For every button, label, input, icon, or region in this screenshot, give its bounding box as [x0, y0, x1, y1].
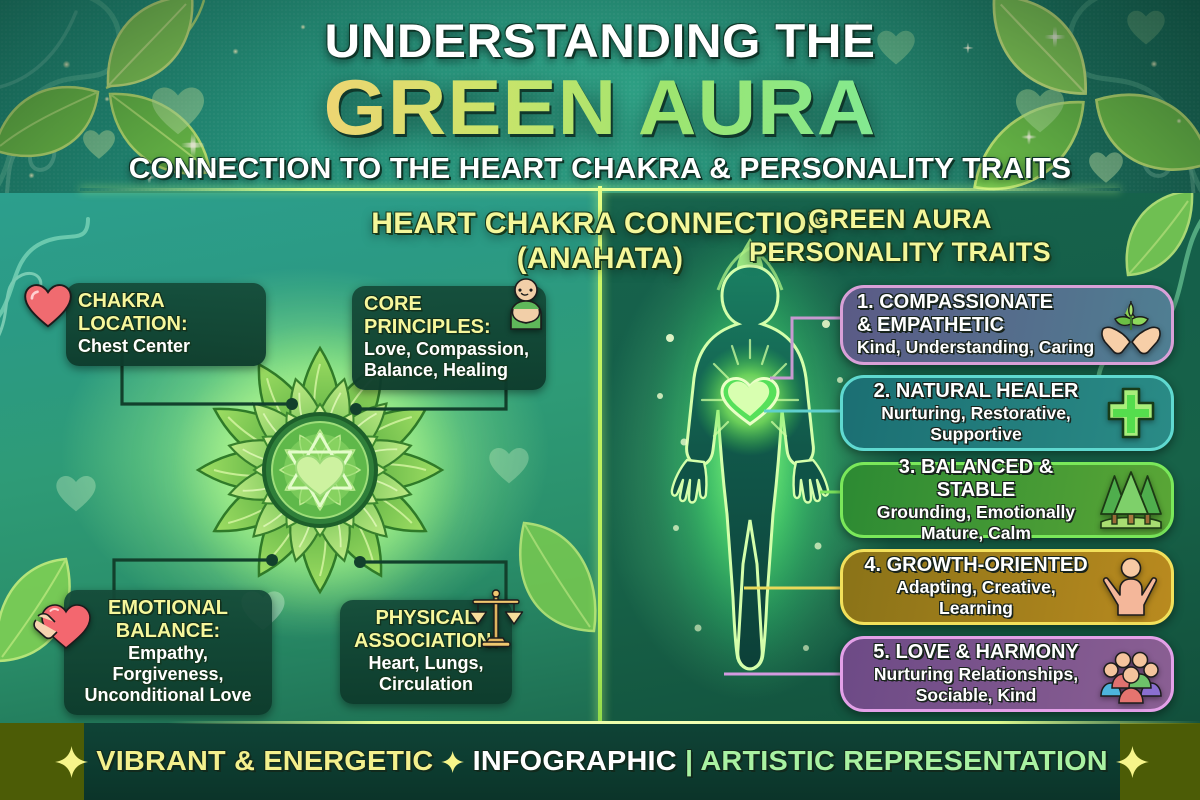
sparkle-icon	[1116, 746, 1149, 778]
page-title: GREEN AURA	[0, 67, 1200, 147]
connector-trait-1	[770, 312, 846, 382]
connector-trait-2	[764, 405, 848, 417]
trait-card-1[interactable]: 1. COMPASSIONATE & EMPATHETIC Kind, Unde…	[840, 285, 1174, 365]
trait-card-3-body-2: Mature, Calm	[857, 523, 1095, 544]
trait-card-3[interactable]: 3. BALANCED & STABLE Grounding, Emotiona…	[840, 462, 1174, 538]
trait-card-1-body: Kind, Understanding, Caring	[857, 337, 1095, 358]
trait-card-1-text: 1. COMPASSIONATE & EMPATHETIC Kind, Unde…	[857, 291, 1095, 358]
trait-card-5-body-1: Nurturing Relationships,	[857, 664, 1095, 685]
header: UNDERSTANDING THE GREEN AURA CONNECTION …	[0, 0, 1200, 192]
medical-cross-icon	[1099, 383, 1163, 443]
connector-trait-5	[724, 668, 848, 680]
evergreen-trees-icon	[1099, 470, 1163, 530]
hands-holding-plant-icon	[1099, 295, 1163, 355]
group-of-people-icon	[1099, 644, 1163, 704]
trait-card-1-title-2: & EMPATHETIC	[857, 314, 1095, 337]
trait-card-2-title: 2. NATURAL HEALER	[857, 380, 1095, 403]
trait-card-5-text: 5. LOVE & HARMONY Nurturing Relationship…	[857, 641, 1095, 706]
infographic-canvas: UNDERSTANDING THE GREEN AURA CONNECTION …	[0, 0, 1200, 800]
trait-card-2-text: 2. NATURAL HEALER Nurturing, Restorative…	[857, 380, 1095, 445]
trait-card-4-body-1: Adapting, Creative,	[857, 577, 1095, 598]
person-arms-raised-icon	[1099, 557, 1163, 617]
trait-card-5[interactable]: 5. LOVE & HARMONY Nurturing Relationship…	[840, 636, 1174, 712]
footer-part-1: VIBRANT & ENERGETIC	[96, 745, 433, 776]
card-physical-association-body-2: Circulation	[352, 674, 500, 695]
footer-part-2: INFOGRAPHIC	[473, 745, 677, 776]
card-chakra-location-title: CHAKRA LOCATION:	[78, 290, 254, 336]
title-line-1: UNDERSTANDING THE	[0, 16, 1200, 66]
trait-card-5-title: 5. LOVE & HARMONY	[857, 641, 1095, 664]
card-emotional-balance-body-2: Forgiveness,	[76, 664, 260, 685]
card-emotional-balance-title-2: BALANCE:	[76, 620, 260, 643]
trait-card-2[interactable]: 2. NATURAL HEALER Nurturing, Restorative…	[840, 375, 1174, 451]
card-emotional-balance: EMOTIONAL BALANCE: Empathy, Forgiveness,…	[64, 590, 272, 715]
right-section-title: GREEN AURA PERSONALITY TRAITS	[600, 203, 1200, 269]
glowing-human-aura-silhouette	[640, 228, 860, 713]
trait-card-2-body-2: Supportive	[857, 424, 1095, 445]
connector-trait-4	[744, 582, 848, 594]
right-section-title-line-1: GREEN AURA	[600, 203, 1200, 236]
footer-band: VIBRANT & ENERGETIC INFOGRAPHIC | ARTIST…	[84, 723, 1120, 800]
person-hugging-icon	[496, 277, 552, 337]
trait-card-4-text: 4. GROWTH-ORIENTED Adapting, Creative, L…	[857, 554, 1095, 619]
footer-top-rule	[168, 721, 1200, 724]
trait-card-5-body-2: Sociable, Kind	[857, 685, 1095, 706]
trait-card-2-body-1: Nurturing, Restorative,	[857, 403, 1095, 424]
red-heart-icon	[24, 282, 72, 328]
balance-scales-icon	[468, 588, 524, 650]
trait-card-4-title: 4. GROWTH-ORIENTED	[857, 554, 1095, 577]
sparkle-icon	[55, 746, 88, 778]
trait-card-4[interactable]: 4. GROWTH-ORIENTED Adapting, Creative, L…	[840, 549, 1174, 625]
trait-card-3-text: 3. BALANCED & STABLE Grounding, Emotiona…	[857, 456, 1095, 544]
card-emotional-balance-title-1: EMOTIONAL	[76, 597, 260, 620]
card-physical-association-body-1: Heart, Lungs,	[352, 653, 500, 674]
card-core-principles-body-1: Love, Compassion,	[364, 339, 534, 360]
subtitle: CONNECTION TO THE HEART CHAKRA & PERSONA…	[0, 153, 1200, 185]
card-chakra-location-body: Chest Center	[78, 336, 254, 357]
card-emotional-balance-body-3: Unconditional Love	[76, 685, 260, 706]
card-chakra-location: CHAKRA LOCATION: Chest Center	[66, 283, 266, 366]
trait-card-3-body-1: Grounding, Emotionally	[857, 502, 1095, 523]
trait-card-1-title-1: 1. COMPASSIONATE	[857, 291, 1095, 314]
right-section-title-line-2: PERSONALITY TRAITS	[600, 236, 1200, 269]
trait-card-4-body-2: Learning	[857, 598, 1095, 619]
card-emotional-balance-body-1: Empathy,	[76, 643, 260, 664]
footer-text: VIBRANT & ENERGETIC INFOGRAPHIC | ARTIST…	[47, 745, 1157, 779]
card-core-principles-body-2: Balance, Healing	[364, 360, 534, 381]
trait-card-3-title: 3. BALANCED & STABLE	[857, 456, 1095, 502]
footer: VIBRANT & ENERGETIC INFOGRAPHIC | ARTIST…	[0, 723, 1200, 800]
sparkle-icon	[442, 751, 465, 773]
footer-part-3: | ARTISTIC REPRESENTATION	[685, 745, 1108, 776]
heart-hands-icon	[32, 594, 94, 650]
